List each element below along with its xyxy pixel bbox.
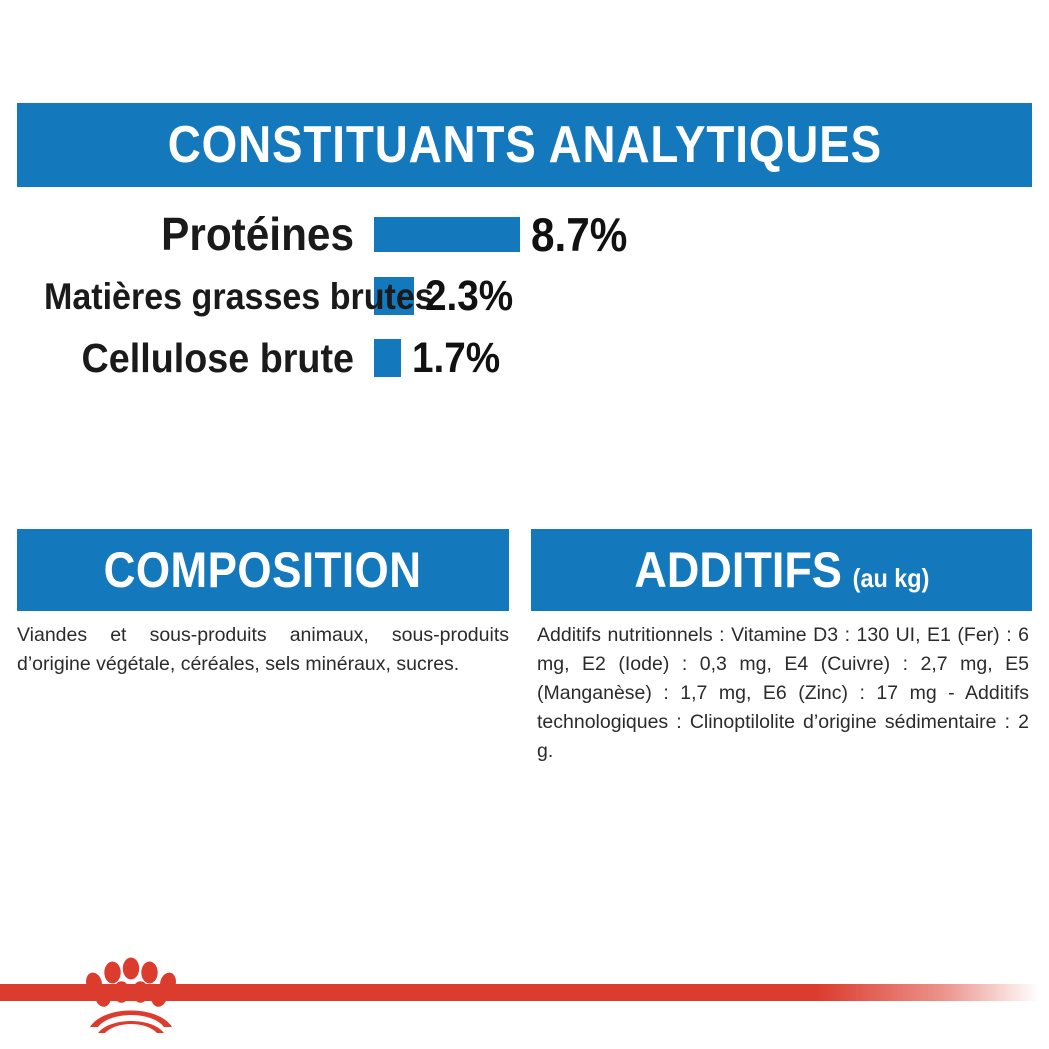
section-title-additifs-unit: (au kg) [852, 563, 929, 594]
additifs-text: Additifs nutritionnels : Vitamine D3 : 1… [537, 621, 1029, 766]
nutrient-value-crude-fat: 2.3% [425, 275, 513, 318]
section-header-additifs: ADDITIFS (au kg) [531, 529, 1032, 611]
nutrition-panel: CONSTITUANTS ANALYTIQUES Protéines 8.7% … [0, 0, 1049, 1049]
section-title-additifs: ADDITIFS [634, 541, 841, 599]
nutrient-row: Cellulose brute 1.7% [17, 330, 1032, 386]
nutrient-label-proteins: Protéines [44, 211, 354, 257]
nutrient-label-crude-fibre: Cellulose brute [44, 338, 354, 379]
nutrient-bar-proteins [374, 217, 520, 252]
nutrient-bar-crude-fibre [374, 339, 401, 377]
section-header-analytical-constituents: CONSTITUANTS ANALYTIQUES [17, 103, 1032, 187]
section-title-analytical-constituents: CONSTITUANTS ANALYTIQUES [167, 115, 881, 175]
additifs-title-group: ADDITIFS (au kg) [634, 541, 929, 599]
nutrient-value-crude-fibre: 1.7% [412, 337, 500, 380]
composition-text: Viandes et sous-produits animaux, sous-p… [17, 621, 509, 679]
nutrient-value-proteins: 8.7% [531, 211, 627, 258]
royal-canin-crown-logo [72, 955, 190, 1033]
nutrient-row: Protéines 8.7% [17, 206, 1032, 262]
section-title-composition: COMPOSITION [104, 541, 422, 599]
nutrient-row: Matières grasses brutes 2.3% [17, 268, 1032, 324]
section-header-composition: COMPOSITION [17, 529, 509, 611]
nutrient-label-crude-fat: Matières grasses brutes [44, 278, 354, 315]
